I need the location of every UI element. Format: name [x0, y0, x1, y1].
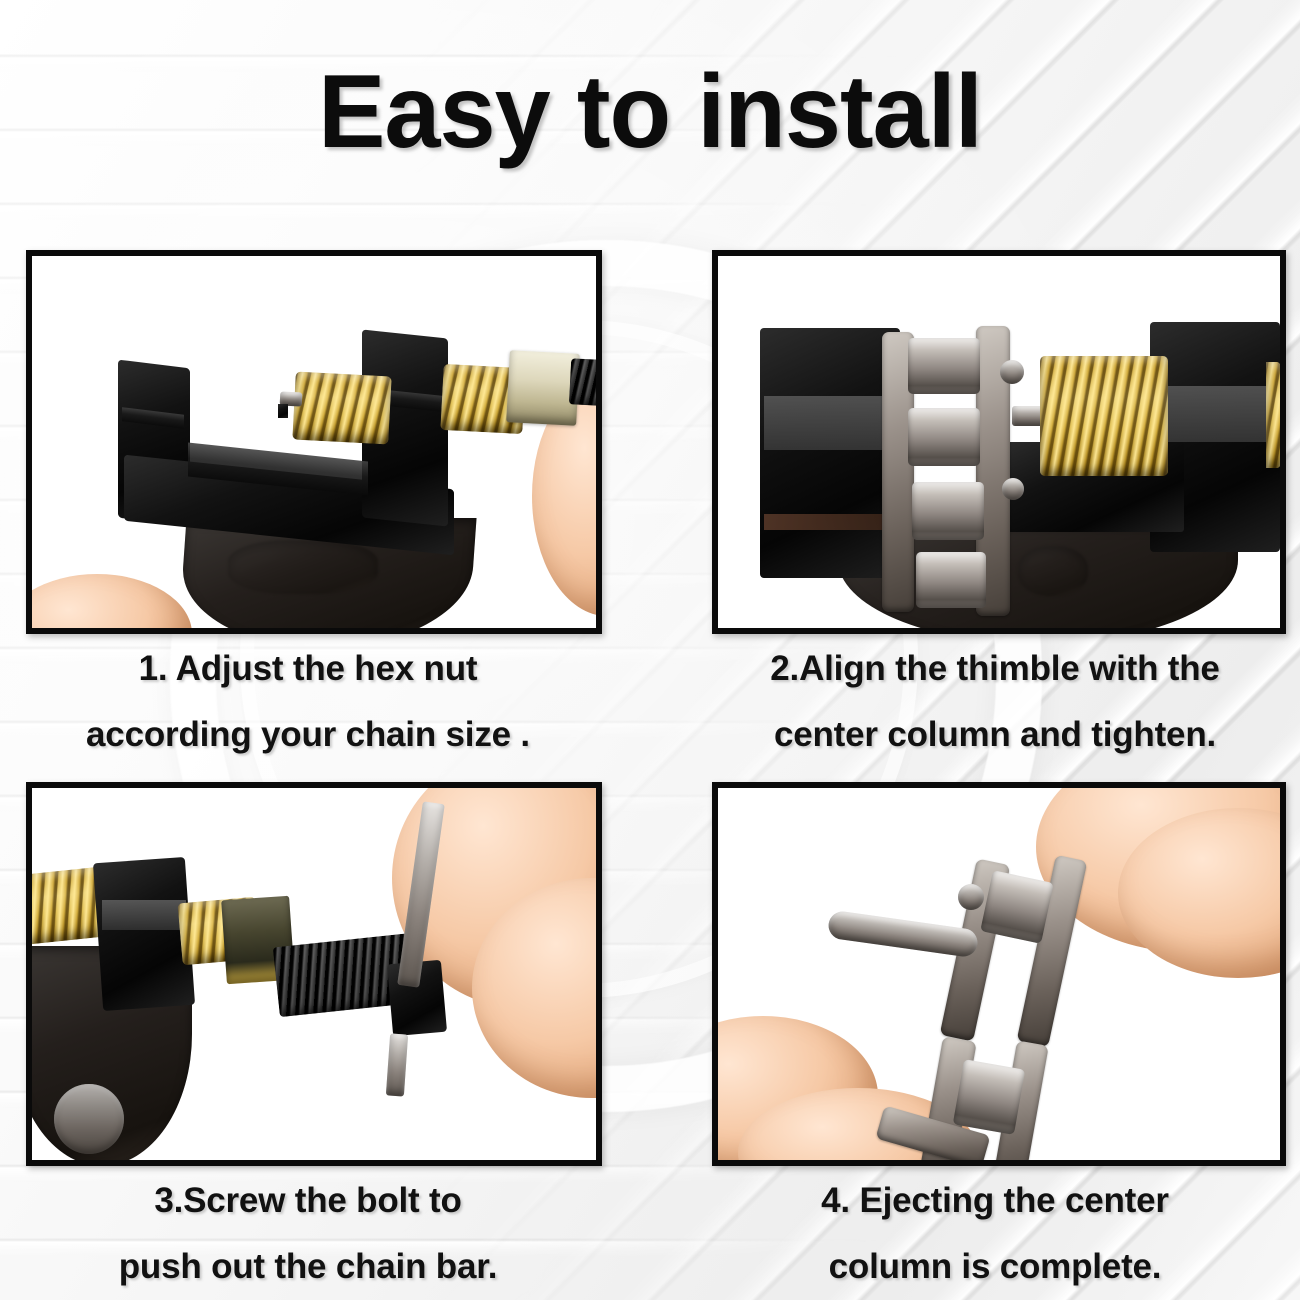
gold-threaded-shaft-left	[292, 372, 391, 445]
step-2-photo	[718, 256, 1280, 628]
chain-pin-head-top	[1000, 360, 1024, 384]
step-1-photo	[32, 256, 596, 628]
step-4-caption-line1: 4. Ejecting the center	[821, 1181, 1169, 1220]
step-3-caption-line2: push out the chain bar.	[26, 1234, 590, 1300]
chain-roller-1	[908, 338, 980, 394]
pin-nub	[278, 404, 288, 418]
chain-pin-head-bottom	[1002, 478, 1024, 500]
jaw-left-block	[760, 328, 900, 578]
finger-bottom	[32, 574, 192, 628]
step-3-caption: 3.Screw the bolt to push out the chain b…	[26, 1168, 590, 1300]
step-2-caption: 2.Align the thimble with the center colu…	[700, 636, 1290, 768]
ejected-center-pin	[827, 910, 979, 959]
step-2-photo-panel	[712, 250, 1286, 634]
step-1-caption-line2: according your chain size .	[26, 702, 590, 768]
gold-thimble	[1040, 356, 1168, 476]
chain-stub	[54, 1084, 124, 1154]
page-title: Easy to install	[20, 58, 1281, 167]
infographic-page: Easy to install	[0, 0, 1300, 1300]
step-1-caption-line1: 1. Adjust the hex nut	[139, 649, 478, 688]
step-4-caption-line2: column is complete.	[700, 1234, 1290, 1300]
cast-logo-emboss	[228, 540, 378, 594]
step-3-caption-line1: 3.Screw the bolt to	[154, 1181, 461, 1220]
ejected-pin	[386, 1033, 408, 1096]
upper-chain-roller	[980, 870, 1054, 944]
chain-roller-4	[916, 552, 986, 608]
upper-chain-pin-head	[958, 884, 984, 910]
step-4-caption: 4. Ejecting the center column is complet…	[700, 1168, 1290, 1300]
step-1-caption: 1. Adjust the hex nut according your cha…	[26, 636, 590, 768]
chain-roller-3	[912, 482, 984, 540]
step-2-caption-line1: 2.Align the thimble with the	[770, 649, 1219, 688]
black-threaded-rod	[569, 358, 596, 407]
step-3-photo-panel	[26, 782, 602, 1166]
lower-chain-roller	[953, 1059, 1026, 1135]
step-4-photo-panel	[712, 782, 1286, 1166]
step-4-photo	[718, 788, 1280, 1160]
step-1-photo-panel	[26, 250, 602, 634]
tool-black-block-face	[102, 900, 186, 930]
jaw-right-block-face	[1154, 386, 1276, 442]
step-2-caption-line2: center column and tighten.	[700, 702, 1290, 768]
jaw-left-rust-band	[764, 514, 896, 530]
chain-roller-2	[908, 408, 980, 466]
gold-ring-edge	[1266, 362, 1280, 468]
cast-emboss-mark	[1018, 546, 1088, 596]
step-3-photo	[32, 788, 596, 1160]
jaw-left-block-face	[764, 396, 896, 450]
